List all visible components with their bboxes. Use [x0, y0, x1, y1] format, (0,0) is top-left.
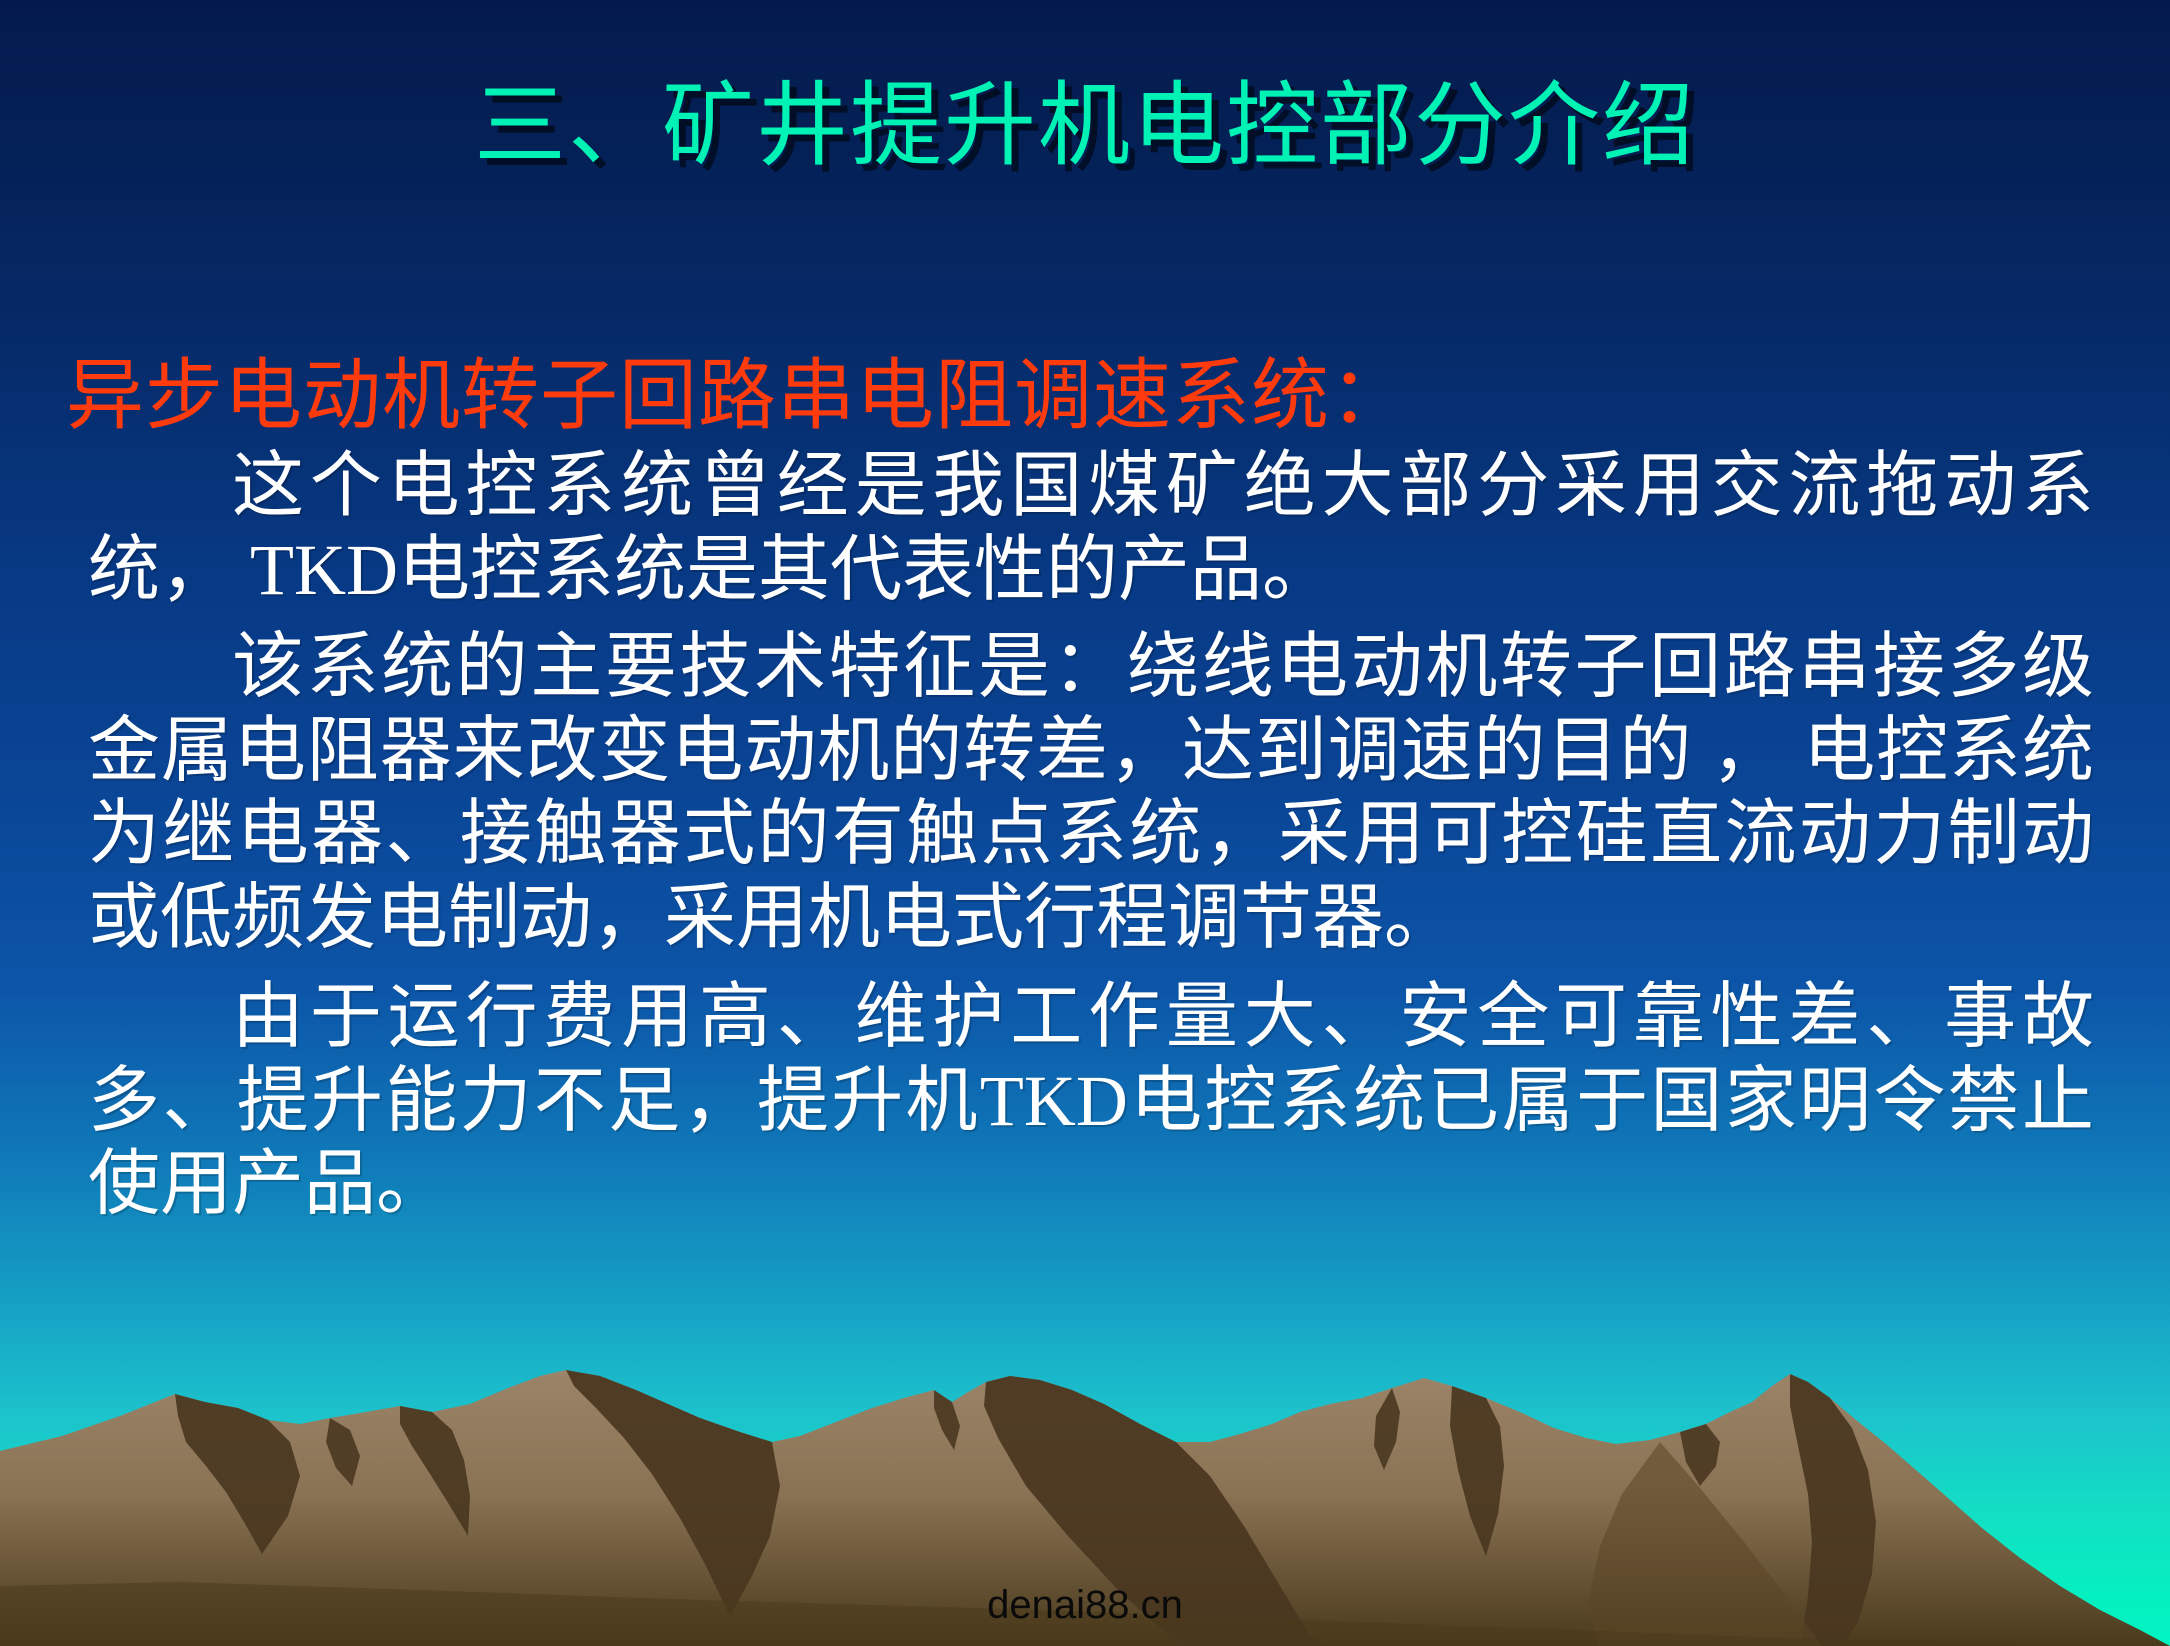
- body-paragraph-1: 这个电控系统曾经是我国煤矿绝大部分采用交流拖动系统， TKD电控系统是其代表性的…: [58, 445, 2118, 612]
- watermark-text: denai88.cn: [0, 1583, 2170, 1628]
- presentation-slide: 三、矿井提升机电控部分介绍 异步电动机转子回路串电阻调速系统： 这个电控系统曾经…: [0, 0, 2170, 1646]
- section-subtitle: 异步电动机转子回路串电阻调速系统：: [66, 352, 2118, 439]
- page-title: 三、矿井提升机电控部分介绍: [0, 78, 2170, 175]
- slide-body: 异步电动机转子回路串电阻调速系统： 这个电控系统曾经是我国煤矿绝大部分采用交流拖…: [58, 352, 2118, 1231]
- body-paragraph-2: 该系统的主要技术特征是：绕线电动机转子回路串接多级金属电阻器来改变电动机的转差，…: [58, 626, 2118, 960]
- body-paragraph-3: 由于运行费用高、维护工作量大、安全可靠性差、事故多、提升能力不足，提升机TKD电…: [58, 976, 2118, 1227]
